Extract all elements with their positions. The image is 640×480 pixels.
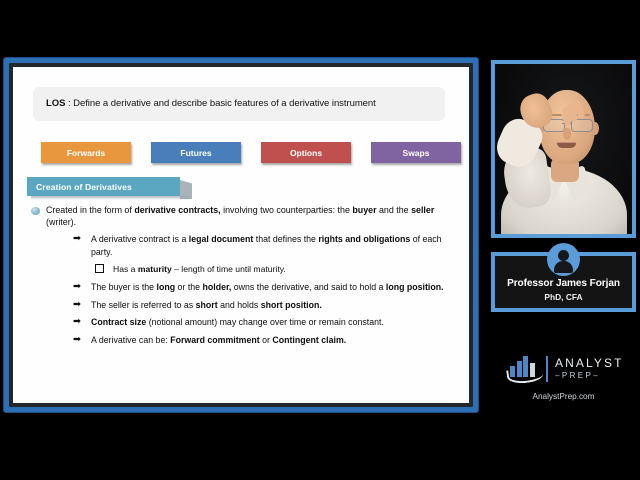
logo-divider bbox=[546, 356, 548, 382]
banner-label: Creation of Derivatives bbox=[27, 182, 132, 192]
list-item: Created in the form of derivative contra… bbox=[27, 204, 455, 228]
tab-futures-label: Futures bbox=[180, 148, 211, 158]
banner-fold bbox=[180, 180, 192, 199]
los-body: : Define a derivative and describe basic… bbox=[65, 98, 375, 109]
brand-logo[interactable]: ANALYST –PREP– AnalystPrep.com bbox=[491, 352, 636, 408]
arrow-bullet-icon: ➡ bbox=[73, 316, 81, 328]
learning-objective-box: LOS : Define a derivative and describe b… bbox=[33, 87, 445, 121]
banner-shadow bbox=[31, 196, 189, 200]
list-item: Has a maturity – length of time until ma… bbox=[27, 263, 455, 275]
avatar-head-icon bbox=[558, 250, 569, 261]
logo-mark-row: ANALYST –PREP– bbox=[509, 356, 624, 382]
slide-frame: LOS : Define a derivative and describe b… bbox=[4, 58, 478, 412]
presenter-name: Professor James Forjan bbox=[495, 278, 632, 289]
bullet-4-text: The buyer is the long or the holder, own… bbox=[91, 281, 455, 293]
los-label: LOS bbox=[46, 98, 65, 109]
list-item: ➡ A derivative can be: Forward commitmen… bbox=[27, 334, 455, 346]
bullet-1-text: Created in the form of derivative contra… bbox=[46, 204, 455, 228]
logo-line-1: ANALYST bbox=[555, 357, 624, 370]
arrow-bullet-icon: ➡ bbox=[73, 233, 81, 245]
list-item: ➡ Contract size (notional amount) may ch… bbox=[27, 316, 455, 328]
video-player-canvas: LOS : Define a derivative and describe b… bbox=[0, 0, 640, 480]
square-bullet-icon bbox=[95, 264, 104, 273]
presenter-webcam-video[interactable] bbox=[495, 64, 632, 234]
bullet-3-text: Has a maturity – length of time until ma… bbox=[113, 263, 455, 275]
avatar-body-icon bbox=[554, 261, 573, 273]
avatar bbox=[547, 243, 580, 276]
tab-options[interactable]: Options bbox=[261, 142, 351, 163]
brand-domain: AnalystPrep.com bbox=[491, 392, 636, 401]
list-item: ➡ A derivative contract is a legal docum… bbox=[27, 233, 455, 257]
tab-swaps[interactable]: Swaps bbox=[371, 142, 461, 163]
logo-wordmark: ANALYST –PREP– bbox=[555, 357, 624, 381]
presentation-slide: LOS : Define a derivative and describe b… bbox=[13, 67, 469, 403]
presenter-nose bbox=[563, 128, 571, 140]
tab-options-label: Options bbox=[290, 148, 322, 158]
arrow-bullet-icon: ➡ bbox=[73, 299, 81, 311]
presenter-mouth bbox=[557, 143, 576, 148]
derivative-type-tabs: Forwards Futures Options Swaps bbox=[41, 142, 461, 164]
webcam-frame bbox=[491, 60, 636, 238]
slide-inner-border: LOS : Define a derivative and describe b… bbox=[9, 63, 473, 407]
bullet-7-text: A derivative can be: Forward commitment … bbox=[91, 334, 455, 346]
bar-chart-icon bbox=[509, 356, 539, 382]
learning-objective-text: LOS : Define a derivative and describe b… bbox=[33, 98, 376, 109]
arrow-bullet-icon: ➡ bbox=[73, 334, 81, 346]
bullet-5-text: The seller is referred to as short and h… bbox=[91, 299, 455, 311]
tab-forwards[interactable]: Forwards bbox=[41, 142, 131, 163]
tab-futures[interactable]: Futures bbox=[151, 142, 241, 163]
tab-swaps-label: Swaps bbox=[403, 148, 430, 158]
bullet-6-text: Contract size (notional amount) may chan… bbox=[91, 316, 455, 328]
logo-line-2: –PREP– bbox=[555, 370, 624, 381]
bullet-2-text: A derivative contract is a legal documen… bbox=[91, 233, 455, 257]
arrow-bullet-icon: ➡ bbox=[73, 281, 81, 293]
list-item: ➡ The seller is referred to as short and… bbox=[27, 299, 455, 311]
banner-body: Creation of Derivatives bbox=[27, 177, 180, 196]
list-item: ➡ The buyer is the long or the holder, o… bbox=[27, 281, 455, 293]
bullet-dot-icon bbox=[31, 207, 40, 215]
tab-forwards-label: Forwards bbox=[67, 148, 105, 158]
section-banner: Creation of Derivatives bbox=[27, 177, 197, 196]
slide-body: Created in the form of derivative contra… bbox=[27, 204, 455, 352]
presenter-credentials: PhD, CFA bbox=[495, 292, 632, 302]
